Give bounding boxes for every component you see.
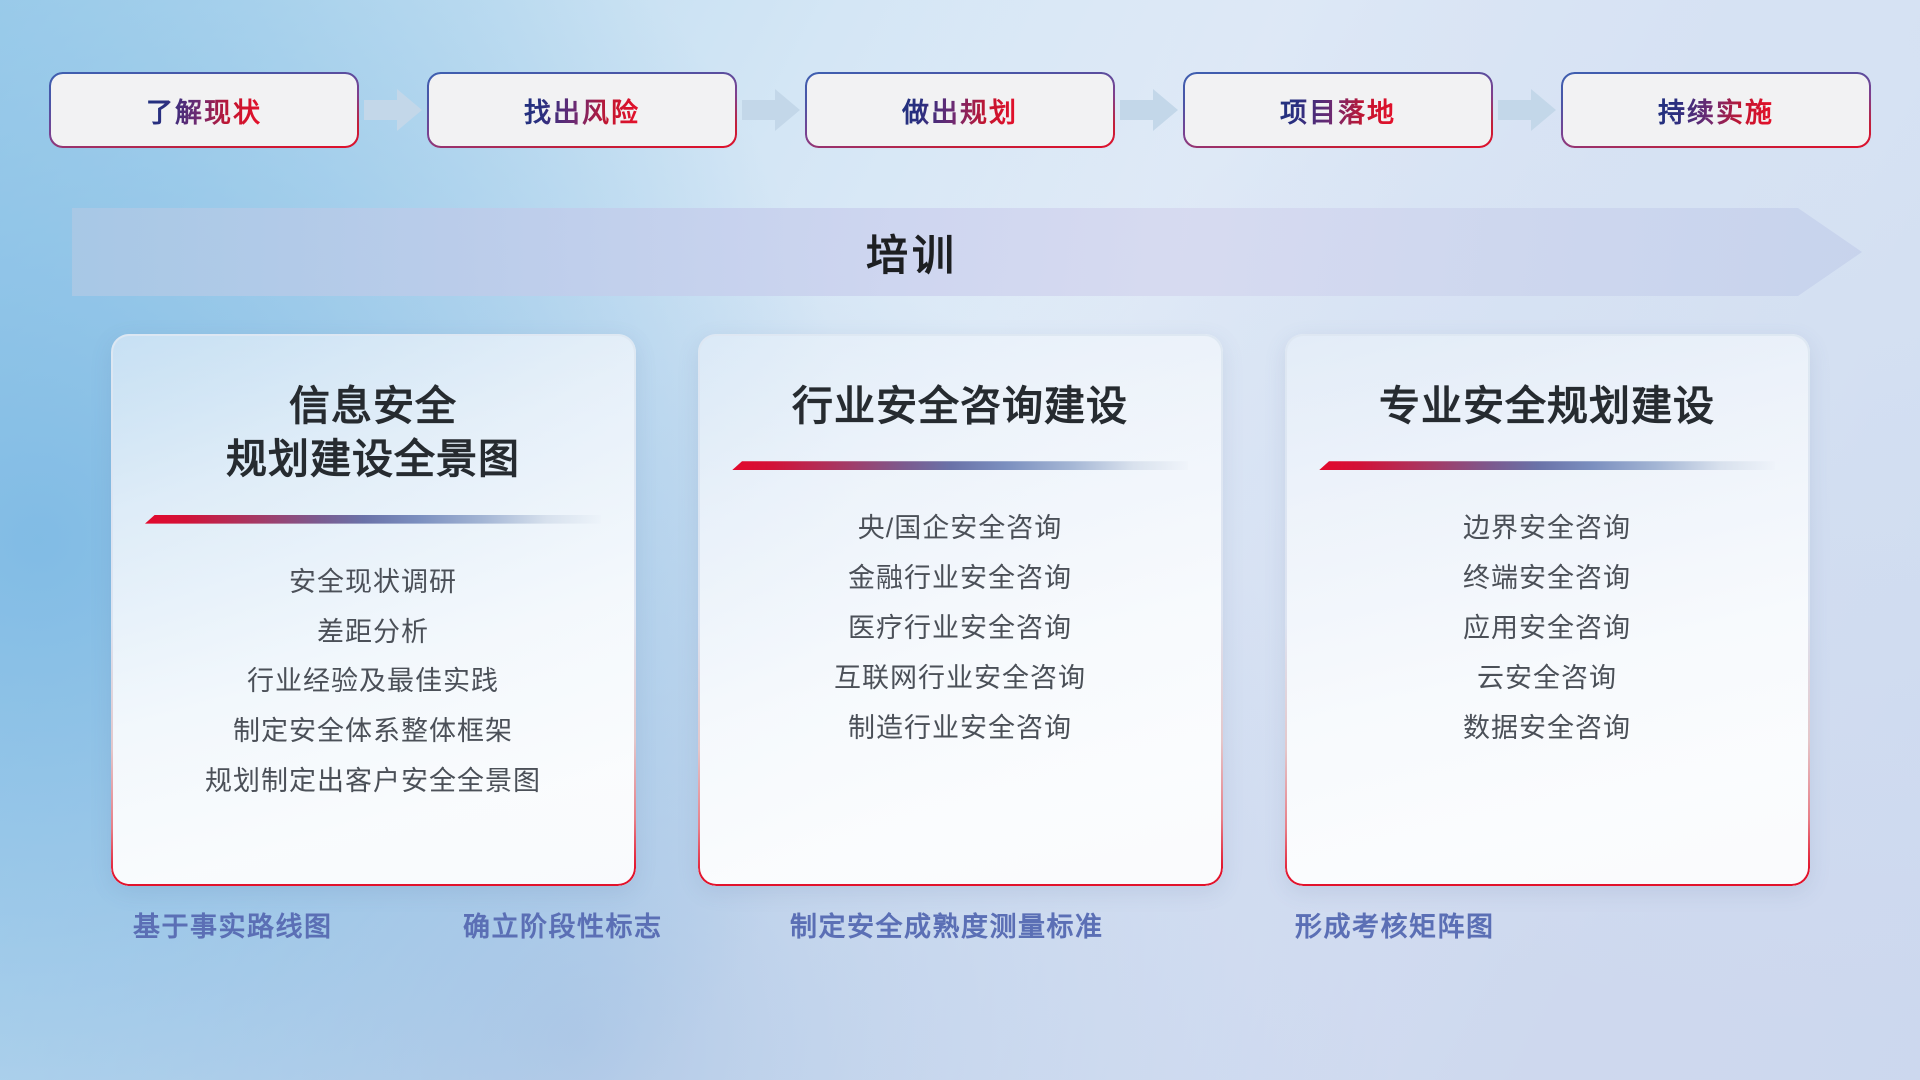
card-title: 信息安全 规划建设全景图	[226, 380, 520, 487]
service-card-1[interactable]: 信息安全 规划建设全景图 安全现状调研 差距分析 行业经验及最佳实践 制定安全体…	[111, 334, 636, 886]
list-item: 金融行业安全咨询	[848, 562, 1072, 595]
service-cards: 信息安全 规划建设全景图 安全现状调研 差距分析 行业经验及最佳实践 制定安全体…	[0, 334, 1920, 894]
list-item: 互联网行业安全咨询	[834, 662, 1086, 695]
arrow-right-icon	[1113, 74, 1185, 146]
card-list: 安全现状调研 差距分析 行业经验及最佳实践 制定安全体系整体框架 规划制定出客户…	[205, 566, 541, 799]
footer-label-3: 制定安全成熟度测量标准	[790, 905, 1104, 944]
card-title: 专业安全规划建设	[1379, 380, 1715, 433]
banner-title: 培训	[72, 208, 1862, 296]
list-item: 云安全咨询	[1477, 662, 1617, 695]
list-item: 制造行业安全咨询	[848, 712, 1072, 745]
step-label: 做出规划	[902, 91, 1018, 130]
step-item-5[interactable]: 持续实施	[1563, 74, 1869, 146]
service-card-3[interactable]: 专业安全规划建设 边界安全咨询 终端安全咨询 应用安全咨询 云安全咨询 数据安全…	[1285, 334, 1810, 886]
card-divider	[145, 515, 601, 524]
list-item: 制定安全体系整体框架	[233, 715, 513, 748]
step-item-4[interactable]: 项目落地	[1185, 74, 1491, 146]
footer-label-1: 基于事实路线图	[133, 905, 333, 944]
step-label: 了解现状	[146, 91, 262, 130]
footer-label-4: 形成考核矩阵图	[1295, 905, 1495, 944]
card-title: 行业安全咨询建设	[792, 380, 1128, 433]
service-card-2[interactable]: 行业安全咨询建设 央/国企安全咨询 金融行业安全咨询 医疗行业安全咨询 互联网行…	[698, 334, 1223, 886]
step-item-2[interactable]: 找出风险	[429, 74, 735, 146]
card-list: 央/国企安全咨询 金融行业安全咨询 医疗行业安全咨询 互联网行业安全咨询 制造行…	[834, 512, 1086, 745]
list-item: 医疗行业安全咨询	[848, 612, 1072, 645]
card-list: 边界安全咨询 终端安全咨询 应用安全咨询 云安全咨询 数据安全咨询	[1463, 512, 1631, 745]
step-label: 项目落地	[1280, 91, 1396, 130]
footer-label-2: 确立阶段性标志	[463, 905, 663, 944]
card-divider	[732, 461, 1188, 470]
list-item: 应用安全咨询	[1463, 612, 1631, 645]
training-banner: 培训	[72, 208, 1862, 296]
list-item: 规划制定出客户安全全景图	[205, 765, 541, 798]
list-item: 数据安全咨询	[1463, 712, 1631, 745]
process-steps-bar: 了解现状 找出风险 做出规划 项目落地 持续实施	[0, 70, 1920, 150]
list-item: 央/国企安全咨询	[858, 512, 1063, 545]
list-item: 终端安全咨询	[1463, 562, 1631, 595]
footer-labels: 基于事实路线图 确立阶段性标志 制定安全成熟度测量标准 形成考核矩阵图	[0, 905, 1920, 975]
arrow-right-icon	[357, 74, 429, 146]
step-label: 持续实施	[1658, 91, 1774, 130]
step-item-1[interactable]: 了解现状	[51, 74, 357, 146]
list-item: 差距分析	[317, 616, 429, 649]
step-label: 找出风险	[524, 91, 640, 130]
arrow-right-icon	[735, 74, 807, 146]
list-item: 安全现状调研	[289, 566, 457, 599]
arrow-right-icon	[1491, 74, 1563, 146]
list-item: 行业经验及最佳实践	[247, 665, 499, 698]
step-item-3[interactable]: 做出规划	[807, 74, 1113, 146]
card-divider	[1319, 461, 1775, 470]
list-item: 边界安全咨询	[1463, 512, 1631, 545]
